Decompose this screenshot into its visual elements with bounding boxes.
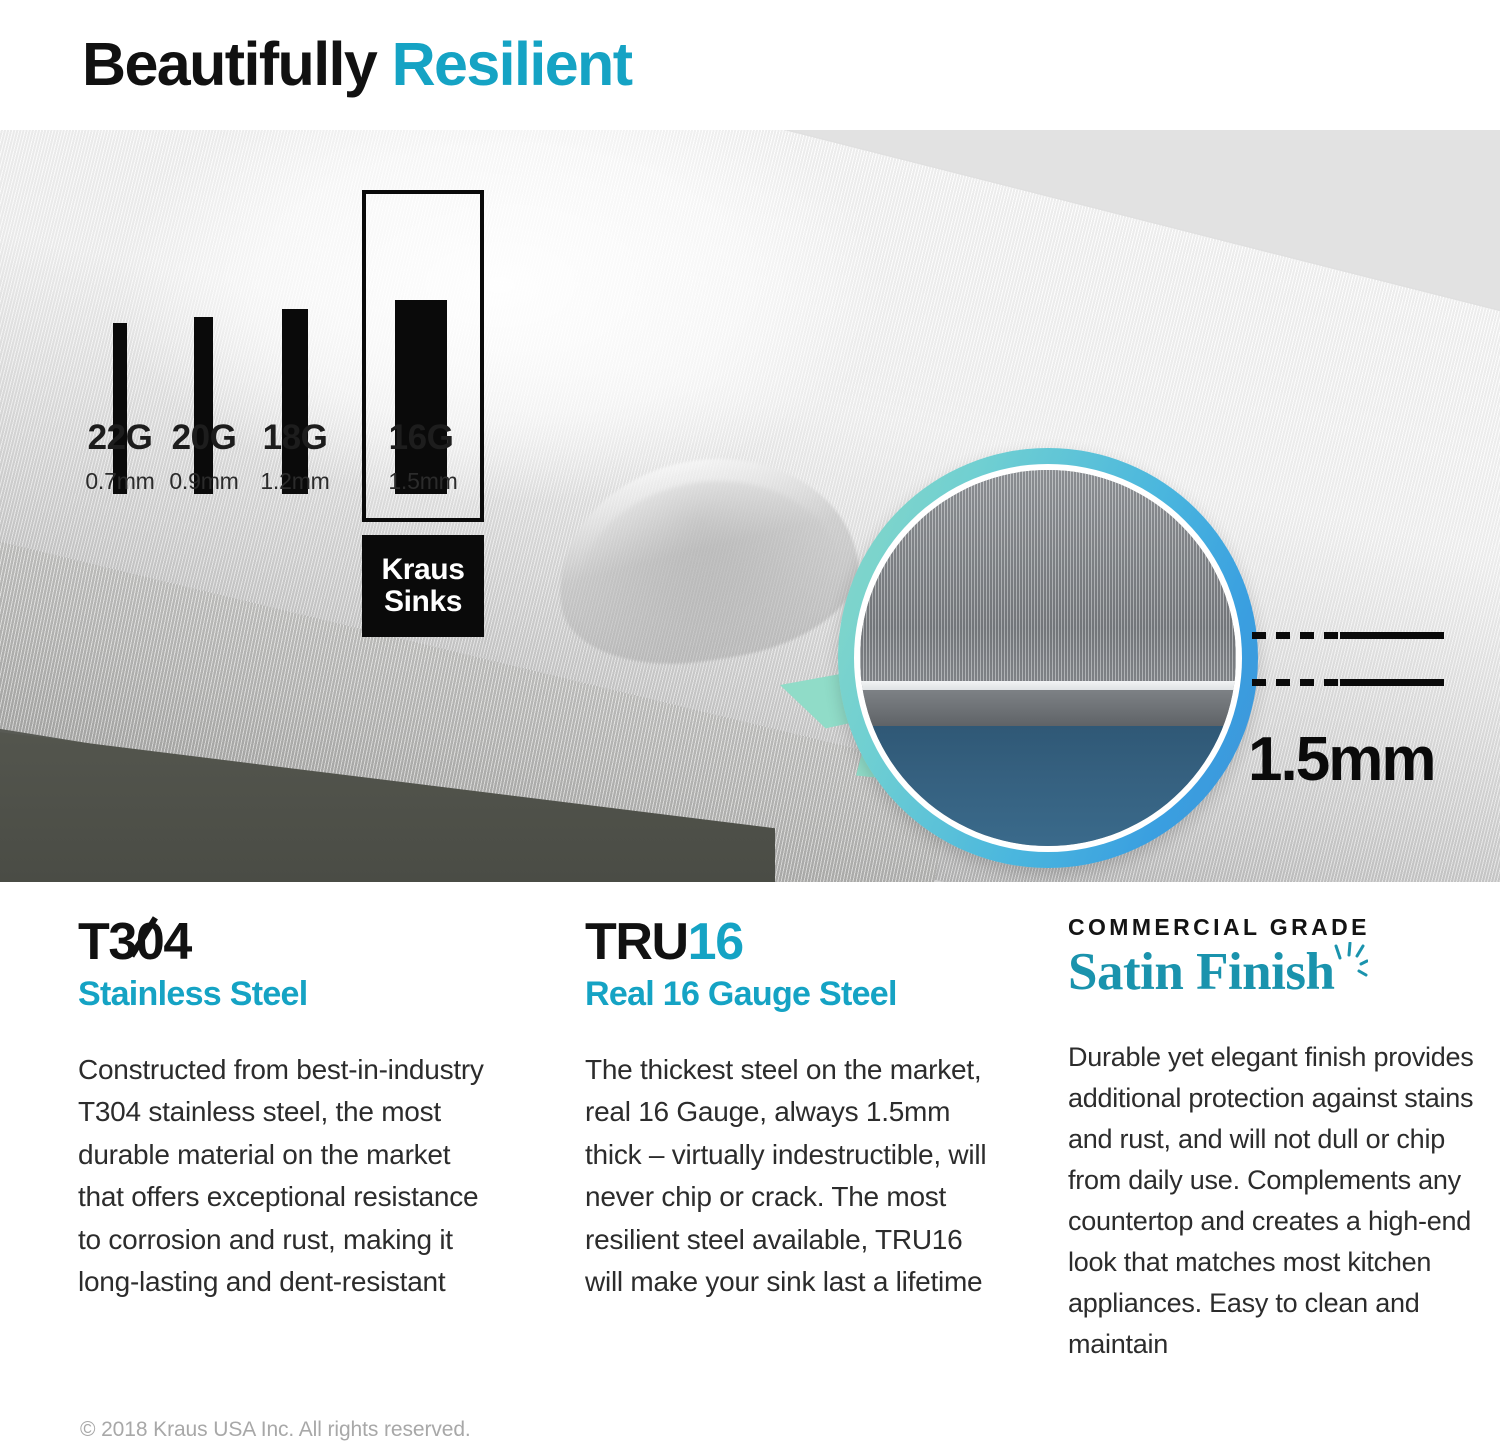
feature-column-tru16: TRU16 Real 16 Gauge Steel The thickest s…	[585, 916, 1005, 1304]
thickness-dimension-lines	[1252, 632, 1452, 726]
satin-finish-text: Satin Finish	[1068, 943, 1334, 1001]
feature-body-t304: Constructed from best-in-industry T304 s…	[78, 1049, 498, 1304]
copyright-notice: © 2018 Kraus USA Inc. All rights reserve…	[80, 1418, 471, 1442]
dimension-line-top	[1252, 632, 1452, 639]
tru16-heading-accent: 16	[688, 913, 743, 971]
t304-heading-main: T3	[78, 913, 136, 971]
lens-edge-highlight	[860, 681, 1236, 690]
sparkle-icon	[1334, 942, 1368, 982]
dimension-solid-segment	[1340, 632, 1444, 639]
dimension-dashed-segment	[1252, 632, 1338, 639]
tru16-heading-main: TRU	[585, 913, 688, 971]
dimension-solid-segment	[1340, 679, 1444, 686]
page-title-part1: Beautifully	[82, 30, 392, 98]
feature-heading-tru16: TRU16	[585, 916, 1005, 969]
feature-heading-t304: T304	[78, 916, 498, 969]
satin-finish-logo: Satin Finish	[1068, 944, 1334, 1001]
feature-eyebrow-commercial-grade: COMMERCIAL GRADE	[1068, 916, 1480, 939]
lens-brushed-steel-surface	[860, 470, 1236, 681]
feature-column-t304: T304 Stainless Steel Constructed from be…	[78, 916, 498, 1304]
thickness-value-label: 1.5mm	[1248, 724, 1434, 795]
feature-column-satin-finish: COMMERCIAL GRADE Satin Finish Durable ye…	[1068, 916, 1480, 1365]
lens-steel-cross-section	[860, 690, 1236, 726]
magnifier-ring	[838, 448, 1258, 868]
t304-heading-zero: 0	[136, 916, 164, 969]
feature-body-tru16: The thickest steel on the market, real 1…	[585, 1049, 1005, 1304]
dimension-dashed-segment	[1252, 679, 1338, 686]
page-title-part2: Resilient	[392, 30, 632, 98]
lens-basin-depth	[860, 726, 1236, 846]
feature-subheading-t304: Stainless Steel	[78, 977, 498, 1013]
feature-body-satin-finish: Durable yet elegant finish provides addi…	[1068, 1037, 1480, 1365]
feature-columns: T304 Stainless Steel Constructed from be…	[0, 916, 1500, 1386]
page-title: Beautifully Resilient	[82, 34, 631, 95]
dimension-line-bottom	[1252, 679, 1452, 686]
feature-subheading-tru16: Real 16 Gauge Steel	[585, 977, 1005, 1013]
magnifier-lens	[860, 470, 1236, 846]
